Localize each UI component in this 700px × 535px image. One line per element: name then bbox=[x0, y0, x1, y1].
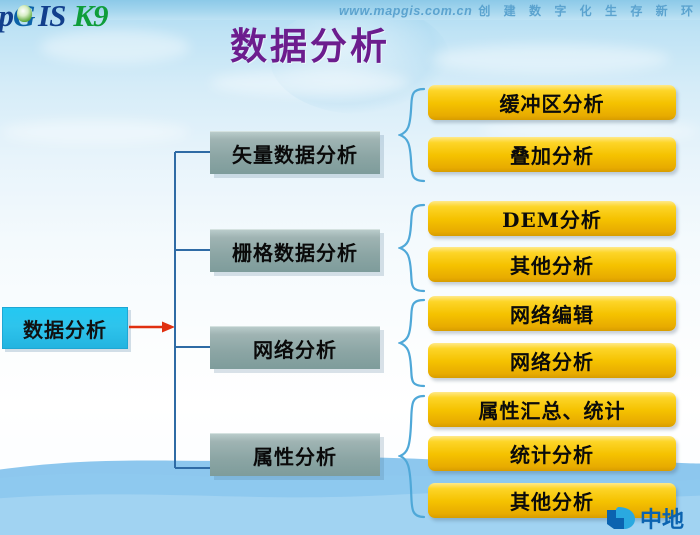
corporate-logo: 中地 bbox=[604, 501, 700, 535]
logo-mid: IS bbox=[38, 0, 65, 33]
branch-node-label: 网络分析 bbox=[210, 334, 380, 363]
branch-node-label: 栅格数据分析 bbox=[210, 237, 380, 266]
cloud-decoration bbox=[430, 44, 670, 74]
leaf-node[interactable]: 叠加分析 bbox=[428, 137, 676, 172]
branch-node-network[interactable]: 网络分析 bbox=[210, 326, 380, 369]
leaf-node-label: 属性汇总、统计 bbox=[479, 395, 626, 424]
branch-node-label: 属性分析 bbox=[210, 441, 380, 470]
branch-node-attribute[interactable]: 属性分析 bbox=[210, 433, 380, 476]
trunk-connector bbox=[160, 140, 220, 480]
logo-version: K9 bbox=[65, 0, 107, 33]
brace-attribute bbox=[398, 393, 426, 520]
leaf-node-label: 缓冲区分析 bbox=[500, 88, 605, 117]
leaf-node-label: 其他分析 bbox=[510, 250, 594, 279]
corporate-name: 中地 bbox=[640, 502, 684, 534]
root-node[interactable]: 数据分析 bbox=[2, 307, 128, 349]
leaf-node-label: 其他分析 bbox=[510, 486, 594, 515]
brace-raster bbox=[398, 202, 426, 294]
leaf-node-label: 网络编辑 bbox=[510, 299, 594, 328]
leaf-node[interactable]: 网络编辑 bbox=[428, 296, 676, 331]
root-node-label: 数据分析 bbox=[23, 314, 107, 343]
leaf-node-label: 网络分析 bbox=[510, 346, 594, 375]
logo-prefix: ap bbox=[0, 0, 13, 33]
branch-node-raster[interactable]: 栅格数据分析 bbox=[210, 229, 380, 272]
logo-globe-icon: G bbox=[13, 0, 38, 34]
leaf-node-label: DEM分析 bbox=[502, 204, 602, 233]
branch-node-label: 矢量数据分析 bbox=[210, 139, 380, 168]
leaf-node[interactable]: 网络分析 bbox=[428, 343, 676, 378]
branch-node-vector[interactable]: 矢量数据分析 bbox=[210, 131, 380, 174]
page-title: 数据分析 bbox=[195, 16, 425, 70]
leaf-node[interactable]: 其他分析 bbox=[428, 247, 676, 282]
leaf-node[interactable]: DEM分析 bbox=[428, 201, 676, 236]
corporate-mark-icon bbox=[604, 504, 638, 532]
leaf-node[interactable]: 统计分析 bbox=[428, 436, 676, 471]
leaf-node-label: 统计分析 bbox=[510, 439, 594, 468]
banner-slogan: 创 建 数 字 化 生 存 新 环 bbox=[472, 4, 698, 18]
leaf-node-label: 叠加分析 bbox=[510, 140, 594, 169]
leaf-icon bbox=[17, 5, 32, 22]
cloud-decoration bbox=[40, 30, 190, 64]
brace-vector bbox=[398, 86, 426, 184]
brace-network bbox=[398, 297, 426, 389]
leaf-node[interactable]: 属性汇总、统计 bbox=[428, 392, 676, 427]
cloud-decoration bbox=[210, 70, 410, 96]
leaf-node[interactable]: 缓冲区分析 bbox=[428, 85, 676, 120]
mapgis-logo: apGISK9 bbox=[0, 0, 154, 34]
slide-canvas: www.mapgis.com.cn创 建 数 字 化 生 存 新 环 apGIS… bbox=[0, 0, 700, 535]
